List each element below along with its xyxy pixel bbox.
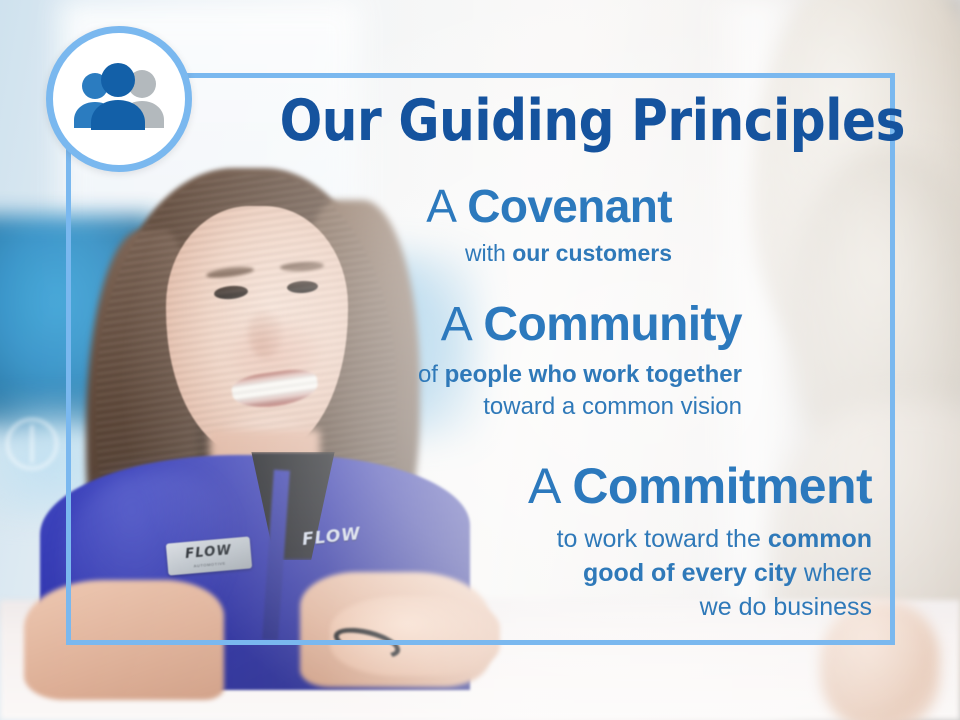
- principle-community-heading: A Community: [0, 300, 742, 350]
- principle-community-line-2: toward a common vision: [0, 391, 742, 423]
- text-segment: of: [418, 361, 445, 388]
- text-segment: to work toward the: [557, 525, 768, 553]
- principle-covenant-article: A: [426, 180, 467, 232]
- text-segment: toward a common vision: [483, 393, 742, 420]
- principle-commitment-heading: A Commitment: [0, 460, 872, 512]
- text-segment: common: [768, 525, 872, 553]
- principle-commitment-line-3: we do business: [0, 590, 872, 624]
- poster-content: Our Guiding Principles A Covenant with o…: [0, 0, 960, 720]
- principle-community-article: A: [441, 298, 484, 351]
- principle-community-lines: of people who work togethertoward a comm…: [0, 359, 742, 422]
- text-segment: where: [797, 559, 872, 587]
- text-segment: with: [465, 240, 512, 266]
- principle-commitment-lines: to work toward the commongood of every c…: [0, 522, 872, 624]
- text-segment: we do business: [700, 593, 872, 621]
- guiding-principles-poster: FLOW AUTOMOTIVE FLOW Our Guiding Princip…: [0, 0, 960, 720]
- text-segment: people who work together: [445, 361, 742, 388]
- principle-covenant-heading: A Covenant: [0, 183, 672, 231]
- principle-commitment-line-2: good of every city where: [0, 556, 872, 590]
- text-segment: our customers: [512, 240, 672, 266]
- principle-community: A Community of people who work togethert…: [0, 300, 742, 422]
- principle-covenant-line-1: with our customers: [0, 240, 672, 267]
- page-title: Our Guiding Principles: [109, 93, 905, 150]
- principle-community-line-1: of people who work together: [0, 359, 742, 391]
- principle-commitment: A Commitment to work toward the commongo…: [0, 460, 872, 624]
- principle-covenant-keyword: Covenant: [467, 180, 672, 232]
- principle-community-keyword: Community: [483, 298, 742, 351]
- principle-commitment-line-1: to work toward the common: [0, 522, 872, 556]
- text-segment: good of every city: [583, 559, 797, 587]
- principle-commitment-keyword: Commitment: [572, 458, 872, 514]
- principle-covenant-lines: with our customers: [0, 240, 672, 267]
- principle-covenant: A Covenant with our customers: [0, 183, 672, 267]
- principle-commitment-article: A: [528, 458, 572, 514]
